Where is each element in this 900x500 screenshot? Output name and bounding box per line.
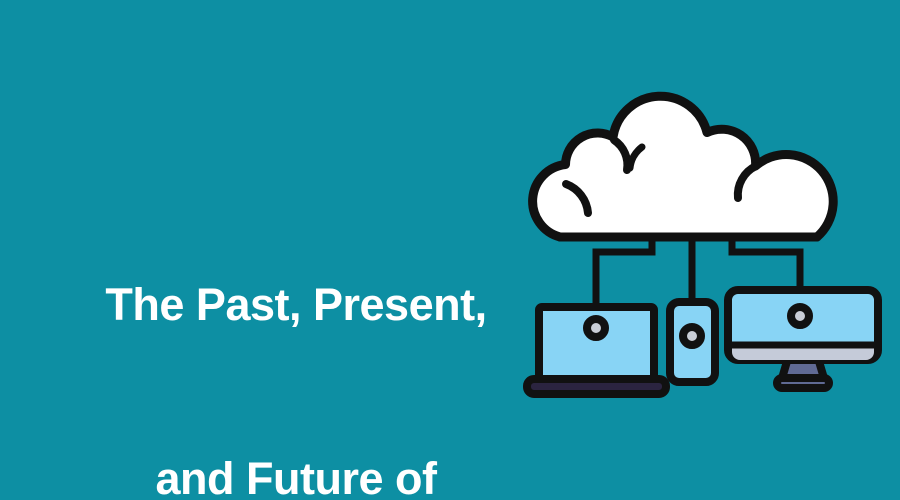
connector-node-monitor xyxy=(791,307,809,325)
headline-line-2: and Future of xyxy=(40,450,552,500)
page-title: The Past, Present, and Future of Telecom… xyxy=(40,160,552,500)
connector-node-laptop xyxy=(587,319,605,337)
cloud-shape xyxy=(533,96,834,237)
monitor-foot xyxy=(777,378,829,388)
headline-line-1: The Past, Present, xyxy=(40,276,552,334)
connector-node-smartphone xyxy=(683,327,701,345)
laptop-base xyxy=(527,379,666,394)
cloud-icon xyxy=(533,96,834,237)
banner: The Past, Present, and Future of Telecom… xyxy=(0,0,900,500)
cloud-network-illustration xyxy=(500,80,900,420)
